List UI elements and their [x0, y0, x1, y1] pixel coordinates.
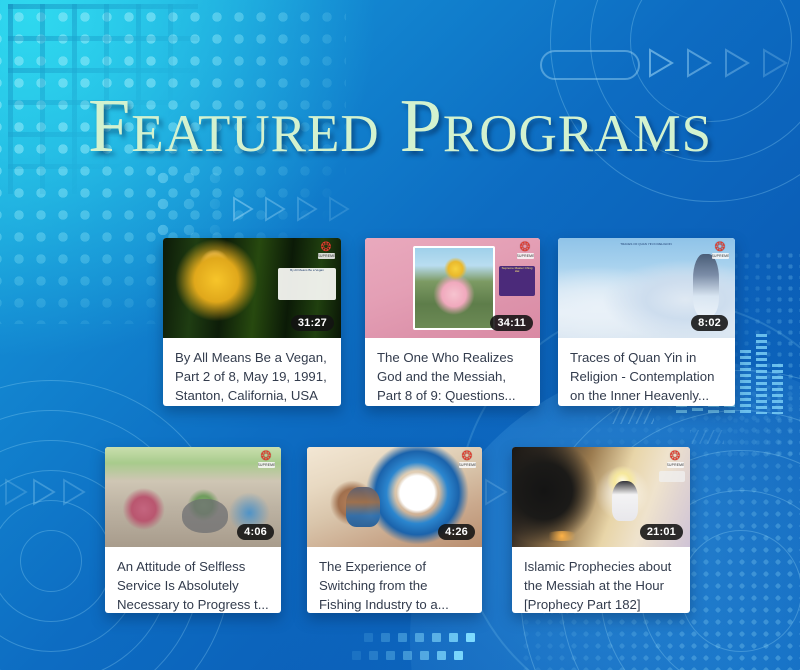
- card-thumbnail[interactable]: ❂ SUPREME MASTER TV 4:26: [307, 447, 482, 547]
- play-triangle-icon: [296, 196, 318, 227]
- card-title: Islamic Prophecies about the Messiah at …: [524, 557, 678, 613]
- thumbnail-caption-text: Supreme Master Ching Hai: [500, 267, 534, 274]
- channel-logo-text: SUPREME MASTER TV: [459, 462, 476, 468]
- diagonal-hatch-decor: [612, 408, 654, 424]
- program-card[interactable]: TRACES OF QUAN YIN IN RELIGION ❂ SUPREME…: [558, 238, 735, 406]
- play-triangle-icon: [232, 196, 254, 227]
- program-card[interactable]: ❂ SUPREME MASTER TV 21:01 Islamic Prophe…: [512, 447, 690, 613]
- play-triangle-icon: [32, 478, 56, 511]
- card-body: Traces of Quan Yin in Religion - Contemp…: [558, 338, 735, 406]
- channel-logo-icon: ❂ SUPREME MASTER TV: [515, 241, 535, 263]
- channel-logo-text: SUPREME MASTER TV: [712, 253, 729, 259]
- play-triangle-icon: [686, 48, 712, 83]
- diagonal-hatch-decor: [690, 430, 724, 444]
- program-card[interactable]: ❂ SUPREME MASTER TV 4:06 An Attitude of …: [105, 447, 281, 613]
- video-duration-badge: 31:27: [291, 315, 334, 331]
- play-triangle-icon: [648, 48, 674, 83]
- channel-logo-text: SUPREME MASTER TV: [667, 462, 684, 468]
- play-triangle-icon: [762, 48, 788, 83]
- channel-logo-icon: ❂ SUPREME MASTER TV: [457, 450, 477, 472]
- video-duration-badge: 4:06: [237, 524, 274, 540]
- channel-logo-text: SUPREME MASTER TV: [258, 462, 275, 468]
- card-body: Islamic Prophecies about the Messiah at …: [512, 547, 690, 613]
- video-duration-badge: 21:01: [640, 524, 683, 540]
- card-title: By All Means Be a Vegan, Part 2 of 8, Ma…: [175, 348, 329, 405]
- thumbnail-caption-plate: By All Means Be a Vegan: [278, 268, 336, 300]
- play-triangle-icon: [724, 48, 750, 83]
- card-body: The One Who Realizes God and the Messiah…: [365, 338, 540, 406]
- card-thumbnail[interactable]: ❂ SUPREME MASTER TV 4:06: [105, 447, 281, 547]
- channel-logo-icon: ❂ SUPREME MASTER TV: [316, 241, 336, 263]
- card-thumbnail[interactable]: ❂ SUPREME MASTER TV 21:01: [512, 447, 690, 547]
- capsule-outline-icon: [540, 50, 640, 80]
- video-duration-badge: 34:11: [490, 315, 533, 331]
- thumbnail-caption-plate: [659, 471, 685, 482]
- square-dash-row: [364, 633, 475, 642]
- channel-logo-icon: ❂ SUPREME MASTER TV: [710, 241, 730, 263]
- card-thumbnail[interactable]: TRACES OF QUAN YIN IN RELIGION ❂ SUPREME…: [558, 238, 735, 338]
- card-title: Traces of Quan Yin in Religion - Contemp…: [570, 348, 723, 405]
- channel-logo-text: SUPREME MASTER TV: [517, 253, 534, 259]
- page-title: Featured Programs: [0, 88, 800, 164]
- square-dash-row: [352, 651, 463, 660]
- channel-logo-text: SUPREME MASTER TV: [318, 253, 335, 259]
- halftone-dots-icon: [150, 165, 270, 235]
- card-body: By All Means Be a Vegan, Part 2 of 8, Ma…: [163, 338, 341, 406]
- play-triangle-icon: [484, 478, 508, 511]
- card-thumbnail[interactable]: By All Means Be a Vegan ❂ SUPREME MASTER…: [163, 238, 341, 338]
- card-body: An Attitude of Selfless Service Is Absol…: [105, 547, 281, 613]
- program-card[interactable]: By All Means Be a Vegan ❂ SUPREME MASTER…: [163, 238, 341, 406]
- play-triangle-icon: [62, 478, 86, 511]
- card-title: An Attitude of Selfless Service Is Absol…: [117, 557, 269, 613]
- channel-logo-icon: ❂ SUPREME MASTER TV: [256, 450, 276, 472]
- channel-logo-icon: ❂ SUPREME MASTER TV: [665, 450, 685, 472]
- card-body: The Experience of Switching from the Fis…: [307, 547, 482, 613]
- play-triangle-icon: [264, 196, 286, 227]
- thumbnail-caption-text: TRACES OF QUAN YIN IN RELIGION: [597, 243, 695, 246]
- program-card[interactable]: Supreme Master Ching Hai ❂ SUPREME MASTE…: [365, 238, 540, 406]
- thumbnail-caption-text: By All Means Be a Vegan: [279, 269, 335, 272]
- play-triangle-icon: [4, 478, 28, 511]
- thumbnail-caption-plate: Supreme Master Ching Hai: [499, 266, 535, 296]
- play-triangle-icon: [328, 196, 350, 227]
- program-card[interactable]: ❂ SUPREME MASTER TV 4:26 The Experience …: [307, 447, 482, 613]
- thumbnail-caption-plate: TRACES OF QUAN YIN IN RELIGION: [596, 242, 696, 278]
- video-duration-badge: 8:02: [691, 315, 728, 331]
- video-duration-badge: 4:26: [438, 524, 475, 540]
- featured-programs-banner: Featured Programs By All Means Be a Vega…: [0, 0, 800, 670]
- card-title: The Experience of Switching from the Fis…: [319, 557, 470, 613]
- card-title: The One Who Realizes God and the Messiah…: [377, 348, 528, 405]
- card-thumbnail[interactable]: Supreme Master Ching Hai ❂ SUPREME MASTE…: [365, 238, 540, 338]
